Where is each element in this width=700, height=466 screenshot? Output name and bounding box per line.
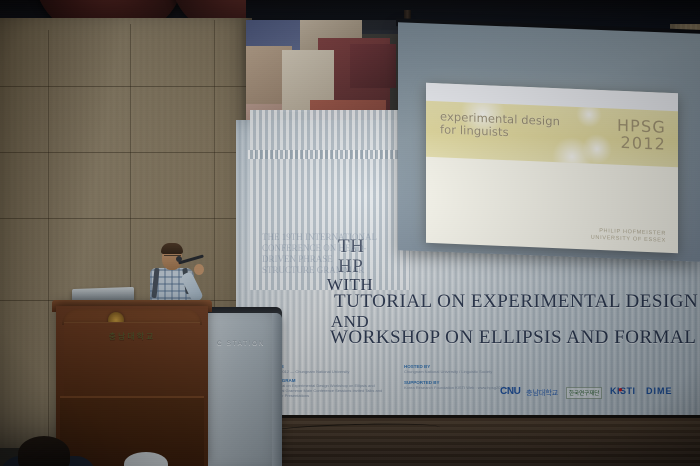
slide-decor-blob bbox=[582, 133, 612, 164]
curtain-gather-seam bbox=[248, 150, 412, 159]
air-purifier-label: C STATION bbox=[200, 340, 282, 347]
banner-hidden-line-1: TH bbox=[338, 236, 364, 258]
fineprint-body: Tutorial on Experimental Design Workshop… bbox=[272, 383, 388, 398]
air-purifier-side bbox=[272, 313, 282, 466]
podium-korean-text: 충남대학교 bbox=[64, 331, 200, 342]
fineprint-body: July 2012 — Chungnam National University bbox=[272, 369, 384, 374]
slide-event-year: 2012 bbox=[617, 134, 666, 153]
kisti-accent-dot: ● bbox=[618, 385, 623, 394]
projected-slide: experimental design for linguists HPSG 2… bbox=[426, 83, 678, 254]
conference-photo-scene: THE 19TH INTERNATIONAL CONFERENCE ON HEA… bbox=[0, 0, 700, 466]
banner-tutorial-line: TUTORIAL ON EXPERIMENTAL DESIGN FOR LING… bbox=[334, 291, 700, 313]
speaker-hand bbox=[194, 264, 204, 275]
ministry-logo: 한국연구재단 bbox=[566, 387, 602, 399]
speaker-hair bbox=[161, 243, 183, 254]
slide-credit: PHILIP HOFMEISTER UNIVERSITY OF ESSEX bbox=[591, 228, 666, 245]
fineprint-body: Chungnam National University / Linguisti… bbox=[404, 369, 524, 374]
air-purifier bbox=[200, 313, 282, 466]
cnu-korean-logo: 충남대학교 bbox=[526, 388, 558, 398]
banner-fineprint-block: DATE July 2012 — Chungnam National Unive… bbox=[272, 364, 384, 374]
sponsor-logo-row: CNU 충남대학교 한국연구재단 KISTI ● DIME bbox=[500, 386, 690, 404]
banner-workshop-line: WORKSHOP ON ELLIPSIS AND FORMAL GRAM bbox=[330, 327, 700, 349]
panel-seam bbox=[48, 30, 49, 450]
stage-floor bbox=[236, 418, 700, 466]
slide-title: experimental design for linguists bbox=[440, 110, 560, 141]
banner-fineprint-block: HOSTED BY Chungnam National University /… bbox=[404, 364, 524, 374]
slide-event-name: HPSG 2012 bbox=[617, 117, 666, 153]
dime-logo: DIME bbox=[646, 386, 673, 396]
banner-fineprint-block: PROGRAM Tutorial on Experimental Design … bbox=[272, 378, 388, 398]
cnu-logo: CNU bbox=[500, 386, 520, 397]
audience-member-head bbox=[18, 436, 70, 466]
microphone-head bbox=[176, 256, 182, 262]
